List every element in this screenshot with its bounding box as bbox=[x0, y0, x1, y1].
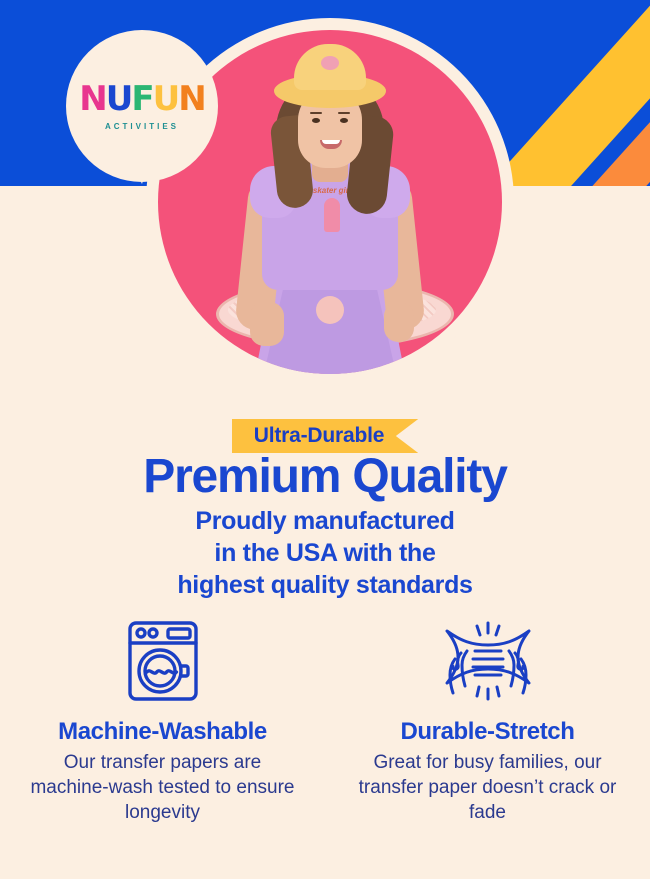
feature-row: Machine-Washable Our transfer papers are… bbox=[0, 618, 650, 825]
subtitle-line-3: highest quality standards bbox=[0, 569, 650, 601]
feature-machine-washable: Machine-Washable Our transfer papers are… bbox=[0, 618, 325, 825]
eyebrow-right bbox=[338, 112, 350, 114]
page-title: Premium Quality bbox=[0, 453, 650, 501]
logo-letter-4: U bbox=[153, 82, 179, 116]
feature-body: Great for busy families, our transfer pa… bbox=[354, 750, 622, 825]
stretch-fabric-icon bbox=[440, 618, 536, 704]
feature-durable-stretch: Durable-Stretch Great for busy families,… bbox=[325, 618, 650, 825]
brand-logo: N U F U N ACTIVITIES bbox=[66, 30, 218, 182]
feature-body: Our transfer papers are machine-wash tes… bbox=[29, 750, 297, 825]
hand-left bbox=[250, 302, 284, 346]
logo-letter-3: F bbox=[131, 82, 152, 116]
shirt-graphic-figure bbox=[324, 198, 340, 232]
feature-title: Durable-Stretch bbox=[400, 718, 574, 746]
hand-right bbox=[384, 302, 414, 342]
ultra-durable-ribbon: Ultra-Durable bbox=[232, 419, 418, 453]
eye-right bbox=[340, 118, 348, 123]
logo-wordmark: N U F U N bbox=[79, 82, 204, 116]
ribbon-row: Ultra-Durable bbox=[0, 419, 650, 453]
bucket-hat-badge bbox=[321, 56, 339, 70]
page-subtitle: Proudly manufactured in the USA with the… bbox=[0, 505, 650, 601]
teeth bbox=[322, 140, 340, 144]
feature-title: Machine-Washable bbox=[58, 718, 267, 746]
subtitle-line-2: in the USA with the bbox=[0, 537, 650, 569]
logo-letter-2: U bbox=[106, 82, 132, 116]
logo-letter-1: N bbox=[79, 82, 105, 116]
eyebrow-left bbox=[310, 112, 322, 114]
logo-letter-5: N bbox=[178, 82, 204, 116]
eye-left bbox=[312, 118, 320, 123]
logo-tagline: ACTIVITIES bbox=[105, 122, 179, 131]
washing-machine-icon bbox=[115, 618, 211, 704]
skateboard-center-dot bbox=[316, 296, 344, 324]
promo-graphic: skater girl N U F U N ACTIVITIES Ultra-D… bbox=[0, 0, 650, 879]
subtitle-line-1: Proudly manufactured bbox=[0, 505, 650, 537]
